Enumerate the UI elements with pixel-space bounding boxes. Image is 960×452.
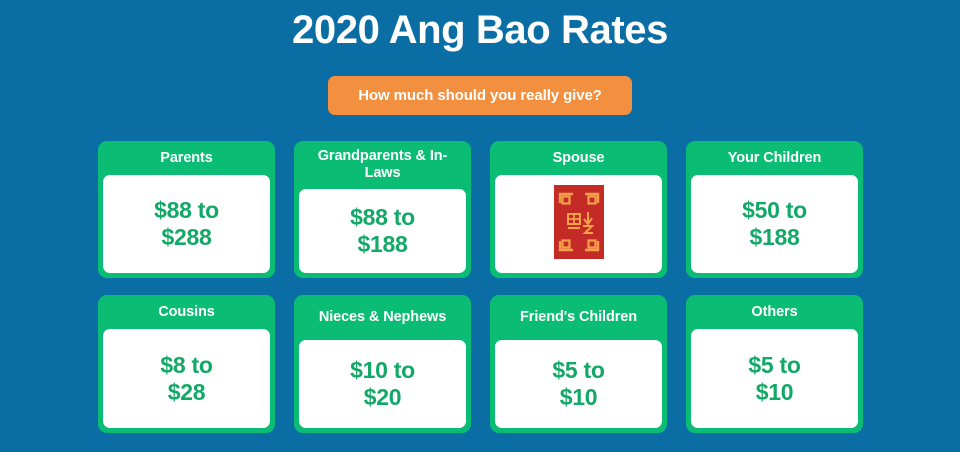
rate-amount: $10 to $20 (350, 357, 415, 411)
angbao-red-packet-icon (554, 185, 604, 264)
subtitle-banner: How much should you really give? (328, 76, 632, 115)
rate-card-friends-children: Friend's Children $5 to $10 (490, 295, 667, 433)
rate-card-header: Parents (98, 141, 275, 175)
rate-amount: $5 to $10 (748, 352, 800, 406)
rate-card-cousins: Cousins $8 to $28 (98, 295, 275, 433)
rate-card-body (495, 175, 662, 273)
rate-card-header: Your Children (686, 141, 863, 175)
rate-card-header: Grandparents & In-Laws (294, 141, 471, 189)
rate-card-body: $8 to $28 (103, 329, 270, 428)
rate-card-grandparents-in-laws: Grandparents & In-Laws $88 to $188 (294, 141, 471, 278)
rate-card-header: Nieces & Nephews (294, 295, 471, 340)
rate-card-nieces-nephews: Nieces & Nephews $10 to $20 (294, 295, 471, 433)
rate-card-header: Others (686, 295, 863, 329)
rate-card-body: $88 to $188 (299, 189, 466, 273)
rate-card-body: $10 to $20 (299, 340, 466, 428)
rate-amount: $88 to $188 (350, 204, 415, 258)
rate-card-body: $50 to $188 (691, 175, 858, 273)
subtitle-banner-text: How much should you really give? (358, 87, 602, 104)
rate-card-header: Cousins (98, 295, 275, 329)
rate-card-grid: Parents $88 to $288 Grandparents & In-La… (98, 141, 863, 433)
rate-amount: $88 to $288 (154, 197, 219, 251)
rate-card-header: Spouse (490, 141, 667, 175)
rate-card-your-children: Your Children $50 to $188 (686, 141, 863, 278)
rate-card-header: Friend's Children (490, 295, 667, 340)
rate-card-body: $88 to $288 (103, 175, 270, 273)
rate-card-parents: Parents $88 to $288 (98, 141, 275, 278)
rate-card-spouse: Spouse (490, 141, 667, 278)
rate-card-body: $5 to $10 (691, 329, 858, 428)
rate-amount: $8 to $28 (160, 352, 212, 406)
rate-amount: $5 to $10 (552, 357, 604, 411)
rate-card-body: $5 to $10 (495, 340, 662, 428)
page-title: 2020 Ang Bao Rates (0, 4, 960, 56)
rate-card-others: Others $5 to $10 (686, 295, 863, 433)
rate-amount: $50 to $188 (742, 197, 807, 251)
